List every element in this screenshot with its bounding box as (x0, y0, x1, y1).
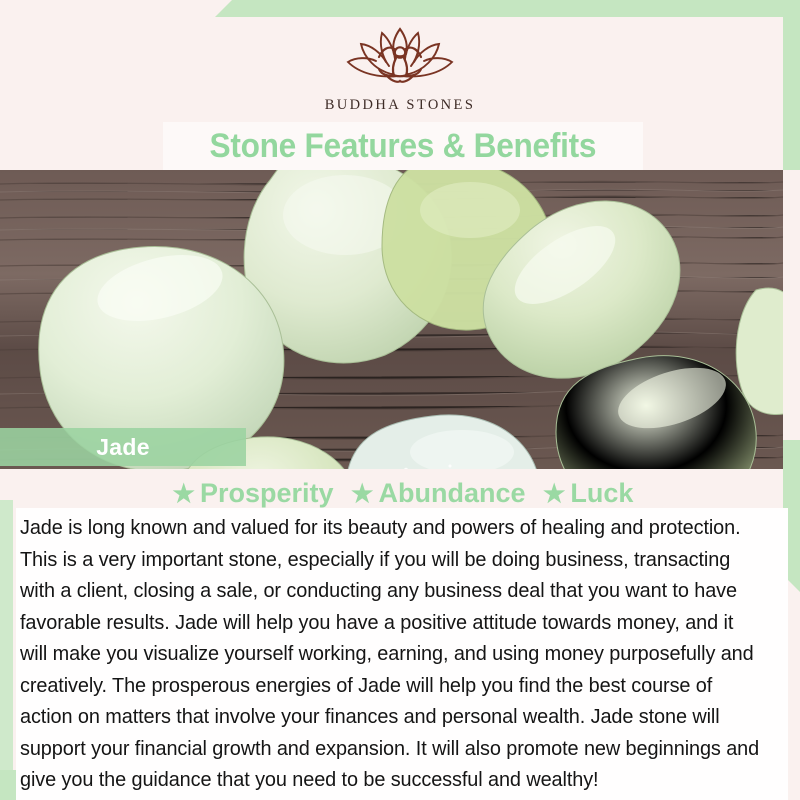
star-icon: ★ (543, 480, 565, 508)
star-icon: ★ (351, 480, 373, 508)
decor-bar-top (215, 0, 800, 17)
lotus-meditation-icon (334, 24, 466, 90)
stone-photo-illustration (0, 170, 783, 469)
stone-description: Jade is long known and valued for its be… (16, 508, 788, 800)
stone-name-badge: Jade (0, 428, 246, 466)
decor-bar-left-lower (0, 500, 13, 770)
keyword-luck: Luck (570, 478, 633, 508)
stone-info-card: BUDDHA STONES Stone Features & Benefits (0, 0, 800, 800)
brand-logo: BUDDHA STONES (0, 24, 800, 114)
keyword-prosperity: Prosperity (200, 478, 334, 508)
page-title: Stone Features & Benefits (163, 122, 643, 171)
stone-keywords: ★Prosperity ★Abundance ★Luck (0, 478, 800, 509)
star-icon: ★ (173, 480, 195, 508)
brand-name: BUDDHA STONES (325, 97, 476, 114)
keyword-abundance: Abundance (378, 478, 525, 508)
stone-photo (0, 170, 783, 469)
stone-description-text: Jade is long known and valued for its be… (20, 512, 763, 796)
page-title-text: Stone Features & Benefits (210, 127, 597, 166)
stone-name-label: Jade (96, 434, 150, 461)
